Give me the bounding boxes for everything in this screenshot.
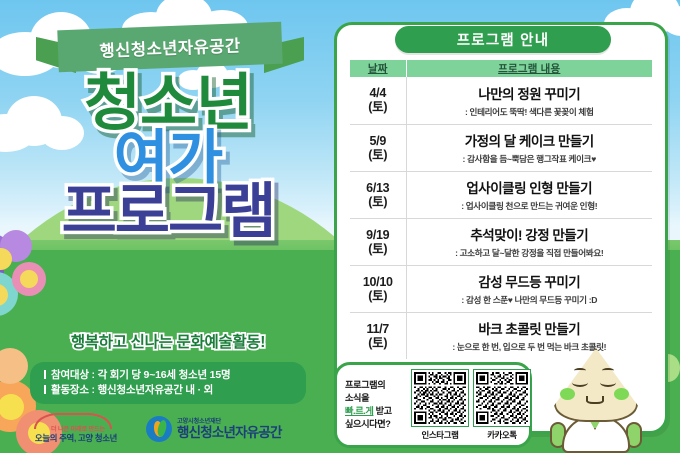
info-audience-text: 참여대상 : 각 회기 당 9~16세 청소년 15명: [51, 369, 230, 381]
qr-caption-line-2: 소식을: [345, 392, 407, 405]
qr-caption-highlight: 빠.르.게: [345, 406, 373, 416]
bullet-bar-icon: [44, 370, 46, 379]
cell-date: 4/4 (토): [350, 77, 406, 124]
date-value: 9/19: [350, 228, 406, 242]
cell-content: 가정의 달 케이크 만들기 : 감사함을 듬~뿍담은 행그작표 케이크♥: [406, 124, 652, 171]
program-title: 추석맞이! 강정 만들기: [411, 224, 649, 244]
leaf-circle-icon: [146, 416, 172, 442]
qr-caption-line-1: 프로그램의: [345, 379, 407, 392]
date-weekday: (토): [350, 336, 406, 350]
logo-left-main-text: 오늘의 주역, 고양 청소년: [28, 432, 124, 444]
panel-title-label: 프로그램 안내: [457, 29, 549, 50]
program-desc: : 고소하고 달~달한 강정을 직접 만들어봐요!: [411, 247, 649, 259]
qr-caption-line-3-rest: 받고: [373, 406, 391, 416]
cell-date: 9/19 (토): [350, 218, 406, 265]
mascot-eye-left: [572, 378, 588, 387]
program-desc: : 감사함을 듬~뿍담은 행그작표 케이크♥: [411, 153, 649, 165]
date-weekday: (토): [350, 242, 406, 256]
date-value: 4/4: [350, 86, 406, 100]
qr-item-instagram[interactable]: 인스타그램: [411, 369, 469, 441]
column-header-date: 날짜: [350, 60, 406, 77]
table-row: 4/4 (토) 나만의 정원 꾸미기 : 인테리어도 뚝딱! 색다른 꽃꽂이 체…: [350, 77, 652, 124]
slogan-text: 행복하고 신나는 문화예술활동!: [0, 330, 336, 352]
qr-caption-line-3: 빠.르.게 받고: [345, 405, 407, 418]
info-line-audience: 참여대상 : 각 회기 당 9~16세 청소년 15명: [44, 368, 296, 383]
qr-kakaotalk-svg: [476, 372, 528, 424]
mascot-cheek-right: [614, 388, 629, 400]
cell-content: 나만의 정원 꾸미기 : 인테리어도 뚝딱! 색다른 꽃꽂이 체험: [406, 77, 652, 124]
program-title: 바크 초콜릿 만들기: [411, 318, 649, 338]
ribbon-body: 행신청소년자유공간: [57, 22, 282, 73]
logo-right-small-text: 고양시청소년재단: [177, 419, 282, 425]
page-title: 청소년 여가 프로그램: [0, 74, 336, 241]
column-header-content: 프로그램 내용: [406, 60, 652, 77]
program-title: 가정의 달 케이크 만들기: [411, 130, 649, 150]
mascot-eyebrow-right: [602, 368, 614, 373]
qr-instagram-svg: [414, 372, 466, 424]
qr-label-kakaotalk: 카카오톡: [473, 429, 531, 441]
info-line-location: 활동장소 : 행신청소년자유공간 내 · 외: [44, 383, 296, 398]
mascot-head: [554, 348, 638, 422]
cell-date: 11/7 (토): [350, 312, 406, 359]
date-weekday: (토): [350, 100, 406, 114]
cell-date: 10/10 (토): [350, 265, 406, 312]
logo-right-text-block: 고양시청소년재단 행신청소년자유공간: [177, 419, 282, 440]
table-row: 6/13 (토) 업사이클링 인형 만들기 : 업사이클링 천으로 만드는 귀여…: [350, 171, 652, 218]
qr-label-instagram: 인스타그램: [411, 429, 469, 441]
date-value: 11/7: [350, 322, 406, 336]
mascot-eye-right: [600, 378, 616, 387]
left-title-column: 행신청소년자유공간 청소년 여가 프로그램 행복하고 신나는 문화예술활동! 참…: [0, 0, 336, 453]
qr-caption: 프로그램의 소식을 빠.르.게 받고 싶으시다면?: [345, 379, 407, 431]
table-row: 5/9 (토) 가정의 달 케이크 만들기 : 감사함을 듬~뿍담은 행그작표 …: [350, 124, 652, 171]
qr-caption-line-4: 싶으시다면?: [345, 418, 407, 431]
logo-right-main-text: 행신청소년자유공간: [177, 426, 282, 440]
qr-code-instagram[interactable]: [411, 369, 469, 427]
cell-content: 업사이클링 인형 만들기 : 업사이클링 천으로 만드는 귀여운 인형!: [406, 171, 652, 218]
date-weekday: (토): [350, 289, 406, 303]
program-title: 업사이클링 인형 만들기: [411, 177, 649, 197]
mascot-cheek-left: [560, 388, 575, 400]
logo-row: 더 나은 미래로 만드는 오늘의 주역, 고양 청소년 고양시청소년재단 행신청…: [28, 408, 318, 450]
panel-title-pill: 프로그램 안내: [395, 26, 611, 53]
table-row: 9/19 (토) 추석맞이! 강정 만들기 : 고소하고 달~달한 강정을 직접…: [350, 218, 652, 265]
date-value: 5/9: [350, 134, 406, 148]
cell-content: 감성 무드등 꾸미기 : 감성 한 스푼♥ 나만의 무드등 꾸미기 :D: [406, 265, 652, 312]
bullet-bar-icon: [44, 385, 46, 394]
program-title: 감성 무드등 꾸미기: [411, 271, 649, 291]
program-schedule-table: 날짜 프로그램 내용 4/4 (토) 나만의 정원 꾸미기 : 인테리어도 뚝딱…: [350, 60, 652, 359]
table-body: 4/4 (토) 나만의 정원 꾸미기 : 인테리어도 뚝딱! 색다른 꽃꽂이 체…: [350, 77, 652, 359]
info-location-text: 활동장소 : 행신청소년자유공간 내 · 외: [51, 384, 213, 396]
logo-goyang-youth: 더 나은 미래로 만드는 오늘의 주역, 고양 청소년: [28, 411, 124, 447]
ribbon-label: 행신청소년자유공간: [99, 32, 241, 61]
program-desc: : 업사이클링 천으로 만드는 귀여운 인형!: [411, 200, 649, 212]
date-value: 10/10: [350, 275, 406, 289]
date-weekday: (토): [350, 195, 406, 209]
cell-date: 6/13 (토): [350, 171, 406, 218]
cell-date: 5/9 (토): [350, 124, 406, 171]
mascot-character: [536, 348, 656, 453]
cell-content: 추석맞이! 강정 만들기 : 고소하고 달~달한 강정을 직접 만들어봐요!: [406, 218, 652, 265]
date-value: 6/13: [350, 181, 406, 195]
mascot-mouth: [586, 396, 604, 404]
participation-info-box: 참여대상 : 각 회기 당 9~16세 청소년 15명 활동장소 : 행신청소년…: [30, 362, 306, 404]
qr-code-kakaotalk[interactable]: [473, 369, 531, 427]
title-line-3: 프로그램: [0, 183, 336, 241]
table-row: 10/10 (토) 감성 무드등 꾸미기 : 감성 한 스푼♥ 나만의 무드등 …: [350, 265, 652, 312]
program-title: 나만의 정원 꾸미기: [411, 83, 649, 103]
table-header-row: 날짜 프로그램 내용: [350, 60, 652, 77]
program-desc: : 감성 한 스푼♥ 나만의 무드등 꾸미기 :D: [411, 294, 649, 306]
logo-haengsin-space: 고양시청소년재단 행신청소년자유공간: [146, 412, 286, 446]
qr-item-kakaotalk[interactable]: 카카오톡: [473, 369, 531, 441]
program-desc: : 인테리어도 뚝딱! 색다른 꽃꽂이 체험: [411, 106, 649, 118]
mascot-eyebrow-left: [574, 368, 586, 373]
date-weekday: (토): [350, 148, 406, 162]
ribbon-banner: 행신청소년자유공간: [36, 26, 304, 72]
qr-contact-box: 프로그램의 소식을 빠.르.게 받고 싶으시다면?: [334, 362, 532, 448]
poster-root: 행신청소년자유공간 청소년 여가 프로그램 행복하고 신나는 문화예술활동! 참…: [0, 0, 680, 453]
